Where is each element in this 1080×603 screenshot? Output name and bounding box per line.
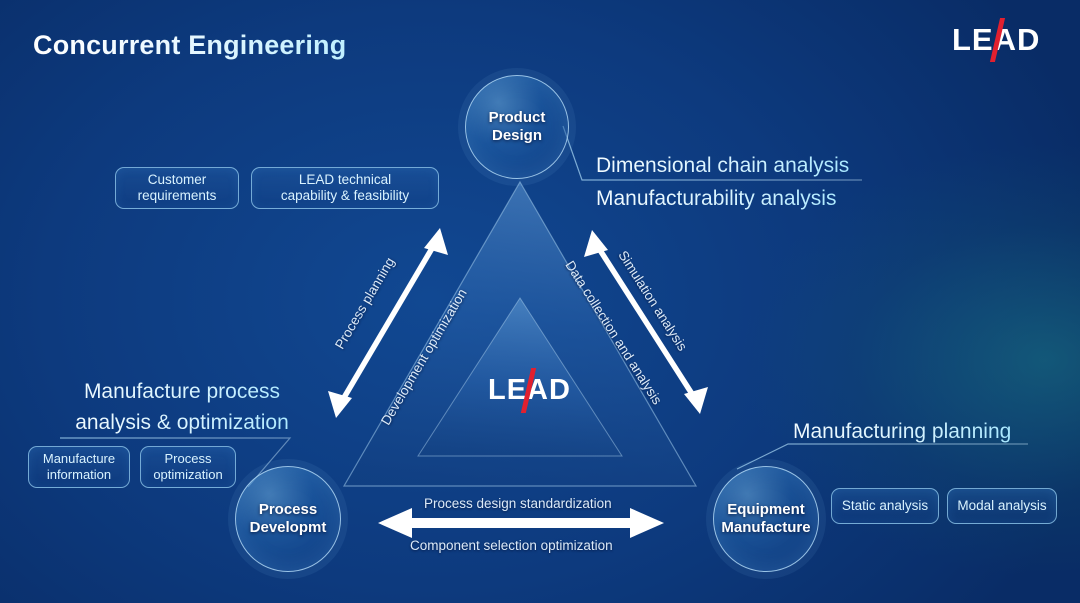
chip-modal-analysis-label: Modal analysis xyxy=(957,498,1046,514)
callout-process-development-line1: Manufacture process xyxy=(62,378,302,406)
chip-lead-technical-capability[interactable]: LEAD technicalcapability & feasibility xyxy=(251,167,439,209)
chip-modal-analysis[interactable]: Modal analysis xyxy=(947,488,1057,524)
chip-manufacture-information[interactable]: Manufactureinformation xyxy=(28,446,130,488)
callout-process-development: Manufacture process analysis & optimizat… xyxy=(62,378,302,438)
slide-canvas: Concurrent Engineering LEAD xyxy=(0,0,1080,603)
node-product-design[interactable]: ProductDesign xyxy=(465,75,569,179)
callout-equipment-manufacture-line1: Manufacturing planning xyxy=(793,418,1011,446)
edge-bottom-label-above: Process design standardization xyxy=(424,496,612,511)
chip-manufacture-information-label: Manufactureinformation xyxy=(43,451,115,482)
callout-process-development-line2: analysis & optimization xyxy=(62,409,302,437)
chip-process-optimization-label: Processoptimization xyxy=(153,451,222,482)
callout-equipment-manufacture: Manufacturing planning xyxy=(793,418,1011,446)
callout-product-design: Dimensional chain analysis Manufacturabi… xyxy=(596,152,849,214)
chip-customer-requirements-label: Customerrequirements xyxy=(138,172,217,204)
node-equipment-manufacture-label: EquipmentManufacture xyxy=(721,501,810,538)
chip-customer-requirements[interactable]: Customerrequirements xyxy=(115,167,239,209)
callout-product-design-line1: Dimensional chain analysis xyxy=(596,152,849,180)
chip-static-analysis[interactable]: Static analysis xyxy=(831,488,939,524)
callout-product-design-line2: Manufacturability analysis xyxy=(596,185,849,213)
equipment-manufacture-connector xyxy=(737,444,1028,469)
node-product-design-label: ProductDesign xyxy=(489,109,546,146)
lead-logo-center: LEAD xyxy=(488,376,562,408)
chip-lead-technical-capability-label: LEAD technicalcapability & feasibility xyxy=(281,172,409,204)
chip-process-optimization[interactable]: Processoptimization xyxy=(140,446,236,488)
bottom-edge-arrow xyxy=(378,508,664,538)
node-process-development[interactable]: ProcessDevelopmt xyxy=(235,466,341,572)
node-equipment-manufacture[interactable]: EquipmentManufacture xyxy=(713,466,819,572)
chip-static-analysis-label: Static analysis xyxy=(842,498,928,514)
node-process-development-label: ProcessDevelopmt xyxy=(250,501,327,538)
edge-bottom-label-below: Component selection optimization xyxy=(410,538,613,553)
